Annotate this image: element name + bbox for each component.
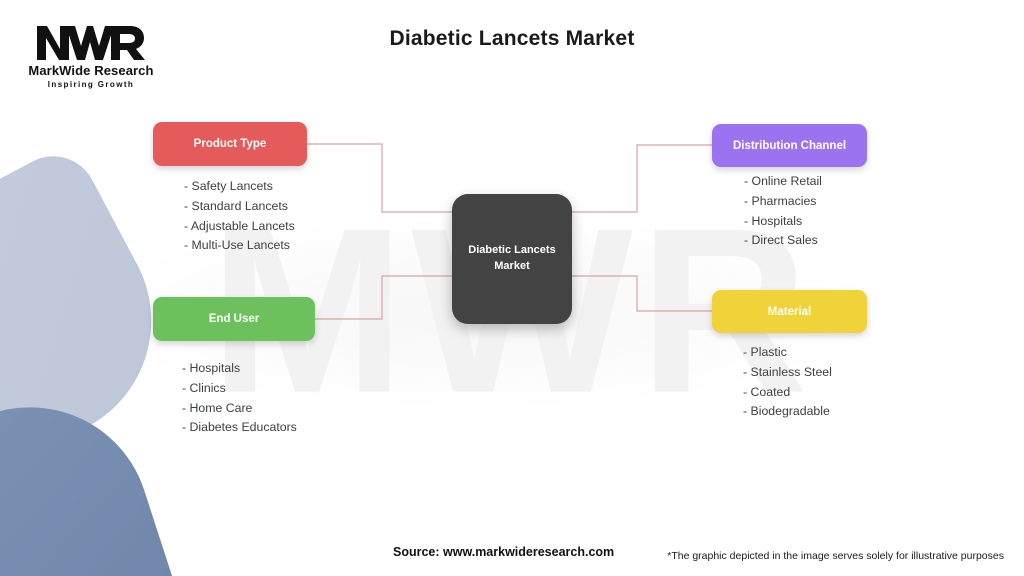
list-item: - Diabetes Educators bbox=[182, 418, 297, 438]
list-item: - Direct Sales bbox=[744, 231, 822, 251]
branch-node-distribution-channel[interactable]: Distribution Channel bbox=[712, 124, 867, 167]
list-item: - Adjustable Lancets bbox=[184, 217, 295, 237]
list-item: - Online Retail bbox=[744, 172, 822, 192]
list-item: - Plastic bbox=[743, 343, 832, 363]
list-item: - Biodegradable bbox=[743, 402, 832, 422]
list-item: - Hospitals bbox=[182, 359, 297, 379]
connector-material bbox=[572, 276, 712, 311]
center-node-line1: Diabetic Lancets bbox=[468, 243, 555, 259]
center-node[interactable]: Diabetic Lancets Market bbox=[452, 194, 572, 324]
branch-items-material: - Plastic - Stainless Steel - Coated - B… bbox=[743, 343, 832, 422]
branch-node-material[interactable]: Material bbox=[712, 290, 867, 333]
infographic-canvas: MWR MarkWide Research Inspiring Growth D… bbox=[0, 0, 1024, 576]
branch-label-distribution-channel: Distribution Channel bbox=[733, 140, 846, 152]
disclaimer-text: *The graphic depicted in the image serve… bbox=[667, 550, 1004, 562]
branch-label-end-user: End User bbox=[209, 313, 260, 325]
list-item: - Pharmacies bbox=[744, 192, 822, 212]
branch-node-end-user[interactable]: End User bbox=[153, 297, 315, 341]
list-item: - Safety Lancets bbox=[184, 177, 295, 197]
branch-items-product-type: - Safety Lancets - Standard Lancets - Ad… bbox=[184, 177, 295, 256]
list-item: - Multi-Use Lancets bbox=[184, 236, 295, 256]
center-node-line2: Market bbox=[494, 259, 529, 275]
branch-items-end-user: - Hospitals - Clinics - Home Care - Diab… bbox=[182, 359, 297, 438]
list-item: - Hospitals bbox=[744, 212, 822, 232]
connector-product-type bbox=[307, 144, 452, 212]
connector-end-user bbox=[315, 276, 452, 319]
list-item: - Coated bbox=[743, 383, 832, 403]
branch-label-product-type: Product Type bbox=[194, 138, 267, 150]
source-text: Source: www.markwideresearch.com bbox=[393, 545, 614, 559]
list-item: - Home Care bbox=[182, 399, 297, 419]
branch-items-distribution-channel: - Online Retail - Pharmacies - Hospitals… bbox=[744, 172, 822, 251]
list-item: - Stainless Steel bbox=[743, 363, 832, 383]
list-item: - Standard Lancets bbox=[184, 197, 295, 217]
branch-node-product-type[interactable]: Product Type bbox=[153, 122, 307, 166]
list-item: - Clinics bbox=[182, 379, 297, 399]
branch-label-material: Material bbox=[768, 306, 811, 318]
connector-distribution-channel bbox=[572, 145, 712, 212]
